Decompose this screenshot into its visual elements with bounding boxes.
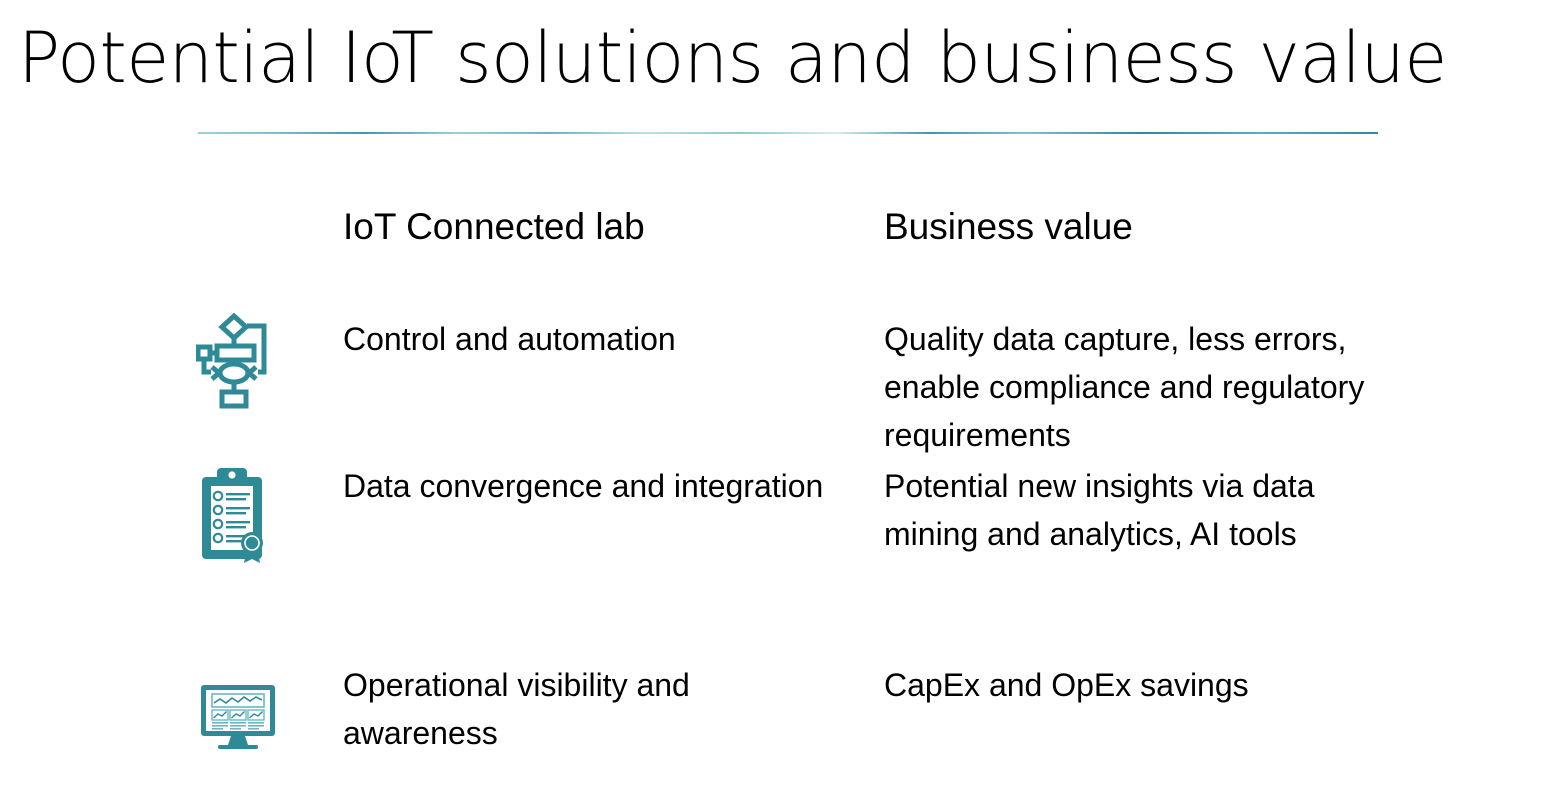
monitor-dashboard-icon xyxy=(198,683,286,751)
cell-solution-2: Data convergence and integration xyxy=(343,462,843,510)
cell-solution-1: Control and automation xyxy=(343,315,843,363)
clipboard-checklist-award-icon xyxy=(200,463,270,565)
flowchart-automation-icon xyxy=(196,313,270,413)
column-header-iot-connected-lab: IoT Connected lab xyxy=(343,204,645,250)
cell-business-value-3: CapEx and OpEx savings xyxy=(884,661,1384,709)
cell-business-value-1: Quality data capture, less errors, enabl… xyxy=(884,315,1384,459)
table-row xyxy=(200,463,270,565)
solutions-value-table: IoT Connected lab Business value xyxy=(0,0,1556,788)
column-header-business-value: Business value xyxy=(884,204,1133,250)
cell-solution-3: Operational visibility and awareness xyxy=(343,661,843,757)
table-row xyxy=(196,313,270,413)
cell-business-value-2: Potential new insights via data mining a… xyxy=(884,462,1384,558)
table-row xyxy=(198,683,286,751)
